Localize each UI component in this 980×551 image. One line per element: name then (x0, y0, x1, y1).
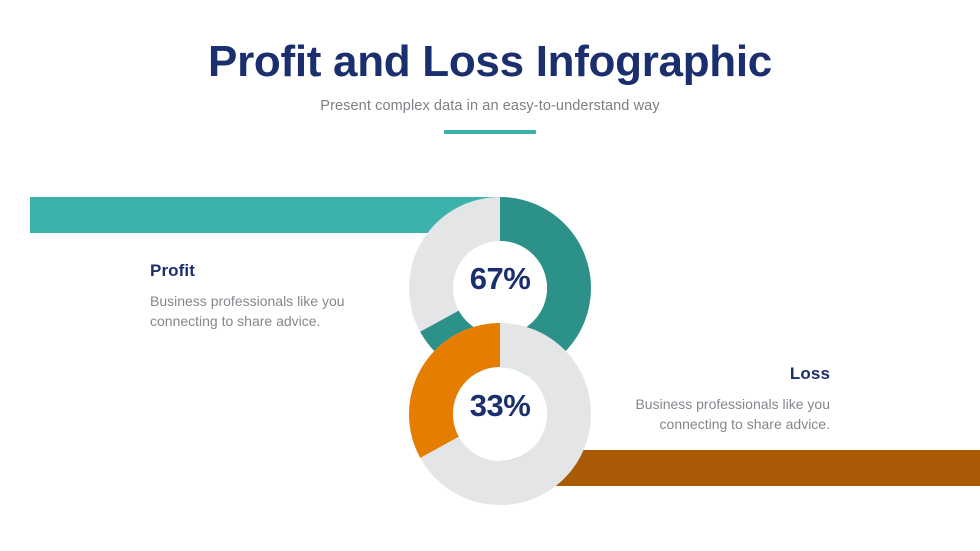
page-title: Profit and Loss Infographic (0, 38, 980, 86)
loss-description: Business professionals like you connecti… (568, 394, 830, 435)
loss-heading: Loss (568, 364, 830, 384)
page-subtitle: Present complex data in an easy-to-under… (0, 98, 980, 114)
loss-percentage-value: 33% (440, 388, 560, 424)
profit-connector-bar (30, 197, 500, 233)
loss-label-block: Loss Business professionals like you con… (568, 364, 830, 435)
profit-description: Business professionals like you connecti… (150, 291, 412, 332)
profit-percentage-value: 67% (440, 261, 560, 297)
profit-label-block: Profit Business professionals like you c… (150, 261, 412, 332)
header: Profit and Loss Infographic Present comp… (0, 38, 980, 134)
infographic-slide: Profit and Loss Infographic Present comp… (0, 0, 980, 551)
title-divider (444, 130, 536, 134)
profit-heading: Profit (150, 261, 412, 281)
loss-connector-bar (500, 450, 980, 486)
